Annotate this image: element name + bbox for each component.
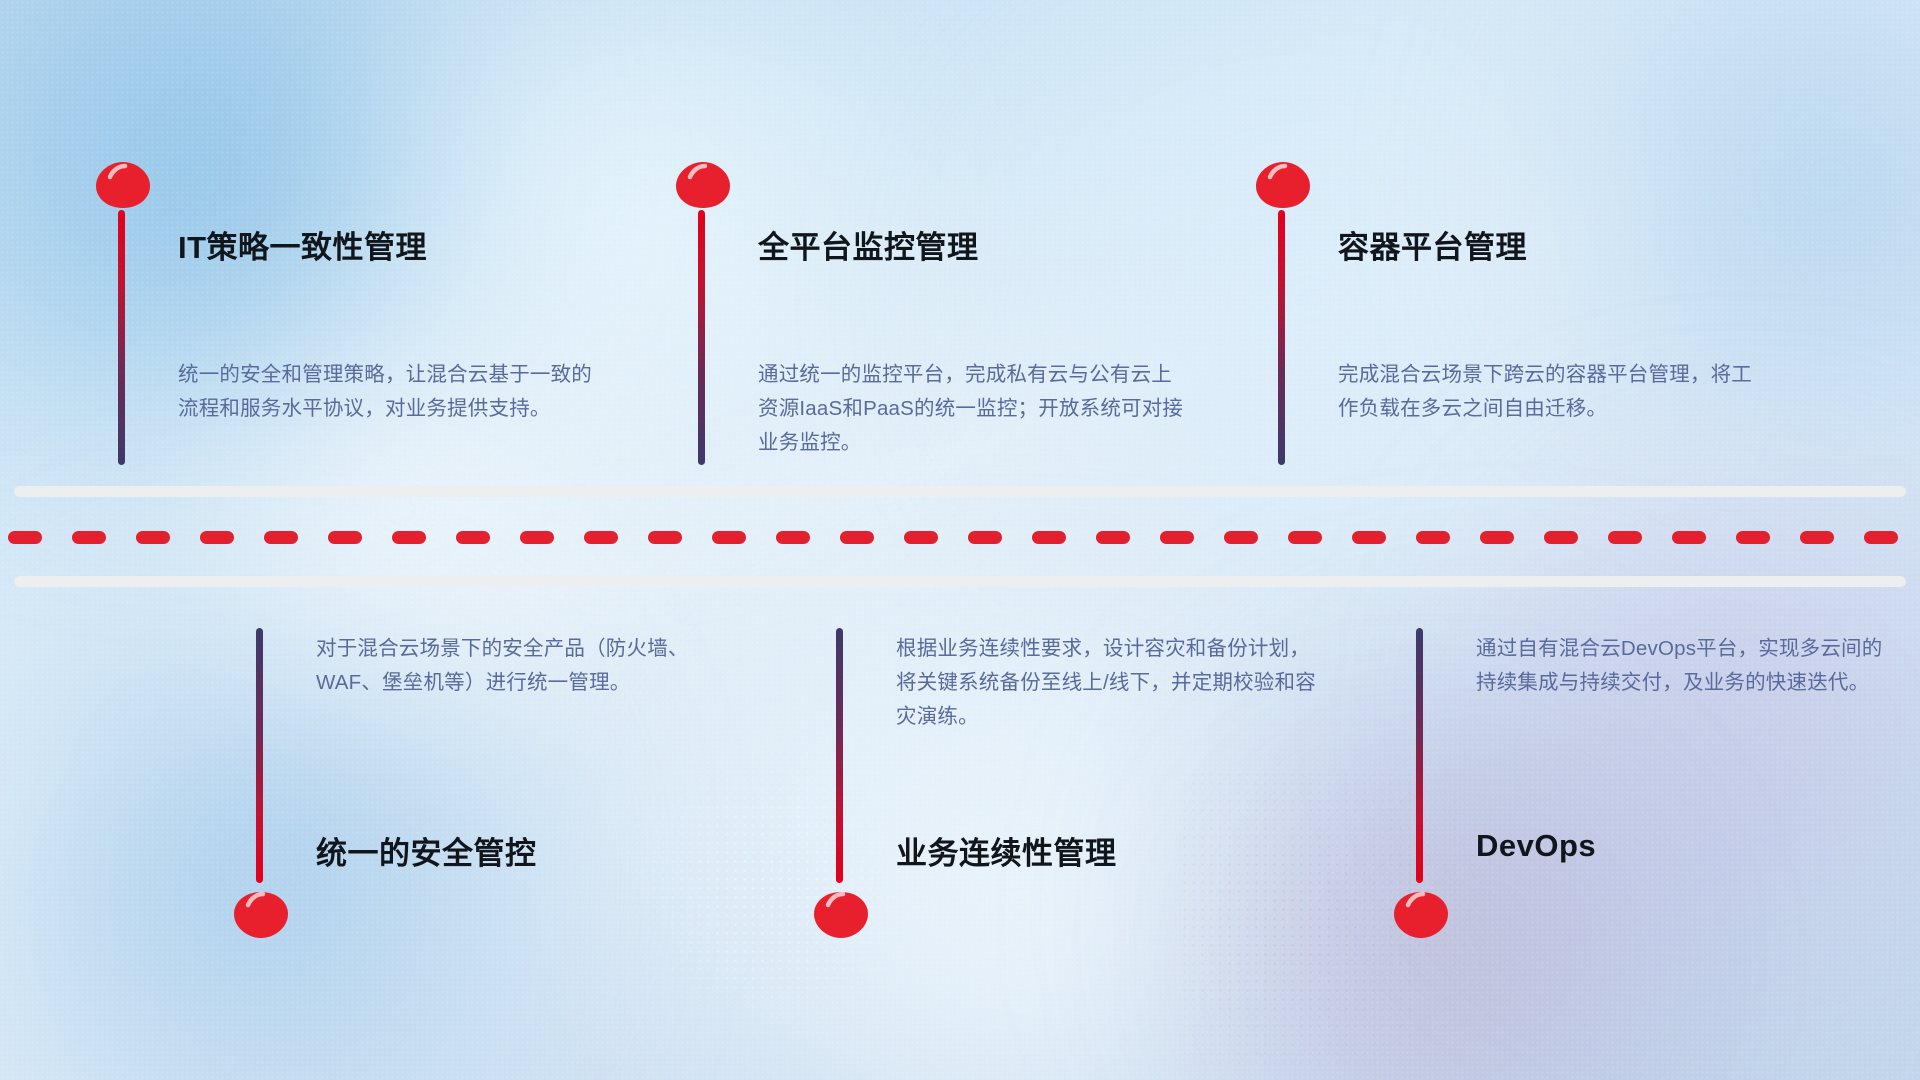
cloud-icon — [92, 160, 154, 212]
feature-heading: 统一的安全管控 — [316, 828, 537, 873]
dash-segment — [392, 531, 426, 544]
rail-bottom — [14, 576, 1906, 587]
feature-body: 通过统一的监控平台，完成私有云与公有云上资源IaaS和PaaS的统一监控；开放系… — [758, 358, 1190, 460]
dash-segment — [1480, 531, 1514, 544]
cloud-icon — [672, 160, 734, 212]
dash-segment — [1288, 531, 1322, 544]
feature-body: 通过自有混合云DevOps平台，实现多云间的持续集成与持续交付，及业务的快速迭代… — [1476, 632, 1896, 700]
dash-segment — [1032, 531, 1066, 544]
dash-segment — [1416, 531, 1450, 544]
feature-body: 完成混合云场景下跨云的容器平台管理，将工作负载在多云之间自由迁移。 — [1338, 358, 1770, 426]
dash-segment — [584, 531, 618, 544]
dash-segment — [840, 531, 874, 544]
dash-segment — [1864, 531, 1898, 544]
dash-segment — [1352, 531, 1386, 544]
pin-stem — [698, 210, 705, 465]
dash-segment — [776, 531, 810, 544]
cloud-icon — [810, 888, 872, 940]
dashed-centerline — [0, 531, 1920, 544]
dash-segment — [264, 531, 298, 544]
pin-stem — [256, 628, 263, 883]
cloud-icon — [1252, 160, 1314, 212]
dash-segment — [904, 531, 938, 544]
feature-body: 对于混合云场景下的安全产品（防火墙、WAF、堡垒机等）进行统一管理。 — [316, 632, 736, 700]
pin-stem — [1278, 210, 1285, 465]
dash-segment — [1800, 531, 1834, 544]
pin-stem — [1416, 628, 1423, 883]
dash-segment — [136, 531, 170, 544]
dash-segment — [456, 531, 490, 544]
dash-segment — [712, 531, 746, 544]
feature-heading: IT策略一致性管理 — [178, 222, 427, 267]
feature-heading: 业务连续性管理 — [896, 828, 1117, 873]
cloud-icon — [1390, 888, 1452, 940]
pin-stem — [118, 210, 125, 465]
dash-segment — [1096, 531, 1130, 544]
rail-top — [14, 486, 1906, 497]
dash-segment — [1608, 531, 1642, 544]
cloud-icon — [230, 888, 292, 940]
dash-segment — [1736, 531, 1770, 544]
dash-segment — [1160, 531, 1194, 544]
dash-segment — [520, 531, 554, 544]
dash-segment — [968, 531, 1002, 544]
feature-heading: DevOps — [1476, 828, 1596, 864]
feature-body: 统一的安全和管理策略，让混合云基于一致的流程和服务水平协议，对业务提供支持。 — [178, 358, 608, 426]
dash-segment — [1672, 531, 1706, 544]
feature-heading: 容器平台管理 — [1338, 222, 1527, 267]
dash-segment — [200, 531, 234, 544]
feature-body: 根据业务连续性要求，设计容灾和备份计划，将关键系统备份至线上/线下，并定期校验和… — [896, 632, 1316, 734]
dash-segment — [328, 531, 362, 544]
dash-segment — [1544, 531, 1578, 544]
feature-heading: 全平台监控管理 — [758, 222, 979, 267]
dash-segment — [1224, 531, 1258, 544]
dash-segment — [72, 531, 106, 544]
dash-segment — [8, 531, 42, 544]
pin-stem — [836, 628, 843, 883]
dash-segment — [648, 531, 682, 544]
